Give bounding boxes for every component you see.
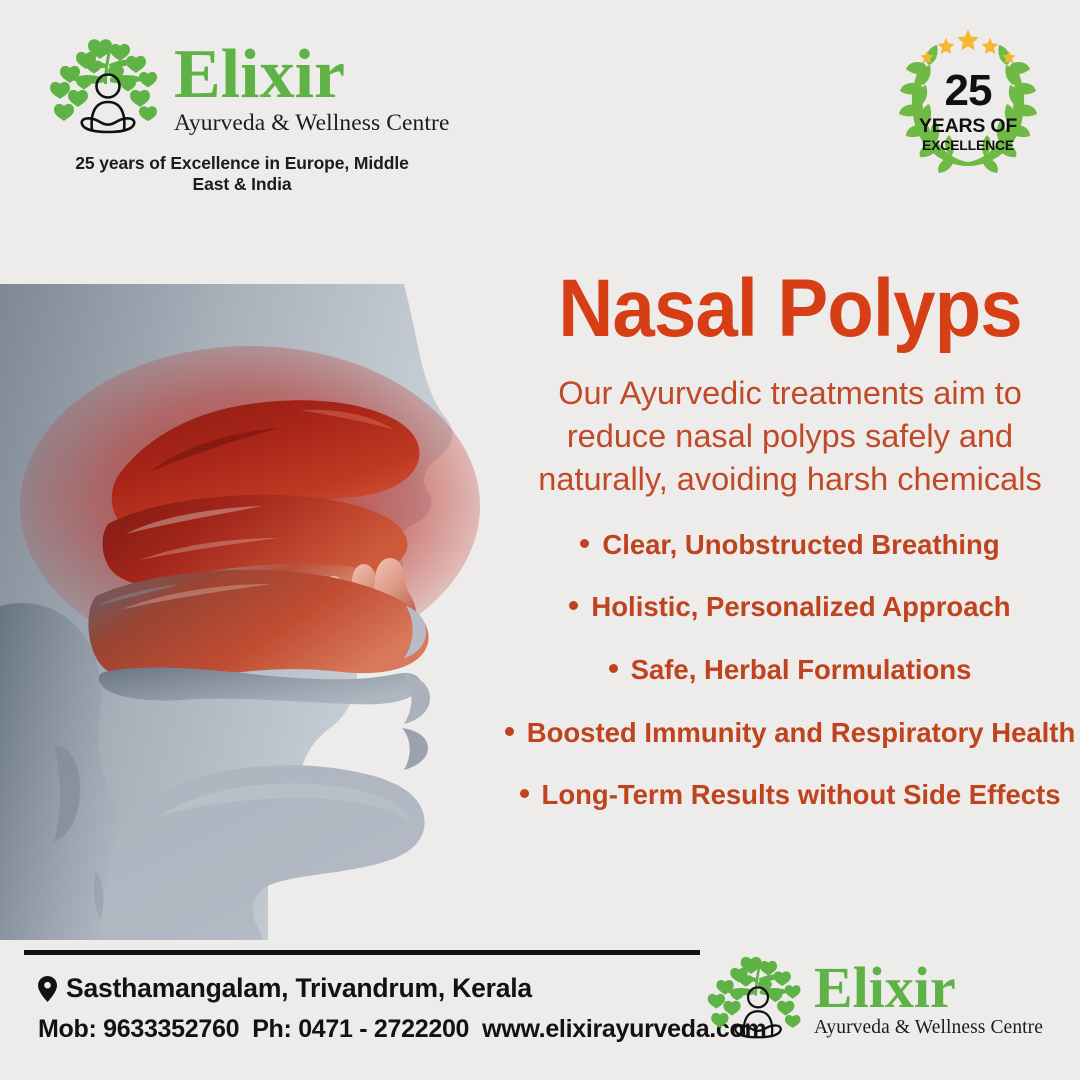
phone-number[interactable]: Ph: 0471 - 2722200 bbox=[252, 1015, 469, 1043]
bullet-icon bbox=[505, 727, 514, 736]
footer-logo-wordmark: Elixir Ayurveda & Wellness Centre bbox=[814, 961, 1043, 1038]
benefit-label: Long-Term Results without Side Effects bbox=[542, 779, 1061, 810]
brand-subtitle: Ayurveda & Wellness Centre bbox=[814, 1017, 1043, 1039]
benefit-label: Holistic, Personalized Approach bbox=[591, 591, 1010, 622]
intro-paragraph: Our Ayurvedic treatments aim to reduce n… bbox=[508, 372, 1072, 501]
bullet-icon bbox=[609, 664, 618, 673]
header-logo[interactable]: Elixir Ayurveda & Wellness Centre 25 yea… bbox=[48, 34, 468, 195]
star-icon bbox=[938, 38, 955, 54]
map-pin-icon bbox=[38, 976, 57, 1002]
main-content: Nasal Polyps Our Ayurvedic treatments ai… bbox=[500, 268, 1080, 842]
footer-logo[interactable]: Elixir Ayurveda & Wellness Centre bbox=[706, 952, 1043, 1048]
brand-name: Elixir bbox=[814, 961, 1043, 1014]
contact-row: Mob: 9633352760Ph: 0471 - 2722200www.eli… bbox=[38, 1015, 718, 1044]
list-item: Clear, Unobstructed Breathing bbox=[500, 529, 1080, 561]
footer: Sasthamangalam, Trivandrum, Kerala Mob: … bbox=[0, 940, 1080, 1080]
brand-subtitle: Ayurveda & Wellness Centre bbox=[174, 110, 449, 137]
list-item: Holistic, Personalized Approach bbox=[500, 591, 1080, 623]
brand-tagline: 25 years of Excellence in Europe, Middle… bbox=[62, 153, 422, 195]
years-of-excellence-badge: 25 YEARS OF EXCELLENCE bbox=[894, 28, 1042, 176]
header-logo-wordmark: Elixir Ayurveda & Wellness Centre bbox=[174, 41, 449, 136]
nasal-cavity-cross-section-illustration bbox=[0, 276, 520, 940]
contact-block: Sasthamangalam, Trivandrum, Kerala Mob: … bbox=[38, 973, 718, 1044]
mobile-number[interactable]: Mob: 9633352760 bbox=[38, 1015, 239, 1043]
address-row: Sasthamangalam, Trivandrum, Kerala bbox=[38, 973, 718, 1004]
benefit-label: Safe, Herbal Formulations bbox=[631, 654, 972, 685]
star-icon bbox=[957, 30, 978, 51]
meditating-figure-tree-icon bbox=[706, 952, 810, 1048]
address-text: Sasthamangalam, Trivandrum, Kerala bbox=[66, 973, 532, 1004]
star-icon bbox=[982, 38, 999, 54]
poster-canvas: Elixir Ayurveda & Wellness Centre 25 yea… bbox=[0, 0, 1080, 1080]
bullet-icon bbox=[520, 789, 529, 798]
bullet-icon bbox=[580, 539, 589, 548]
list-item: Boosted Immunity and Respiratory Health bbox=[500, 717, 1080, 749]
list-item: Long-Term Results without Side Effects bbox=[500, 779, 1080, 811]
brand-name: Elixir bbox=[174, 43, 449, 107]
page-title: Nasal Polyps bbox=[520, 268, 1059, 350]
divider bbox=[24, 950, 700, 955]
benefit-label: Clear, Unobstructed Breathing bbox=[602, 529, 999, 560]
meditating-figure-tree-icon bbox=[48, 34, 168, 144]
list-item: Safe, Herbal Formulations bbox=[500, 654, 1080, 686]
benefit-label: Boosted Immunity and Respiratory Health bbox=[527, 717, 1076, 748]
bullet-icon bbox=[569, 601, 578, 610]
header: Elixir Ayurveda & Wellness Centre 25 yea… bbox=[0, 0, 1080, 200]
benefits-list: Clear, Unobstructed Breathing Holistic, … bbox=[500, 529, 1080, 811]
